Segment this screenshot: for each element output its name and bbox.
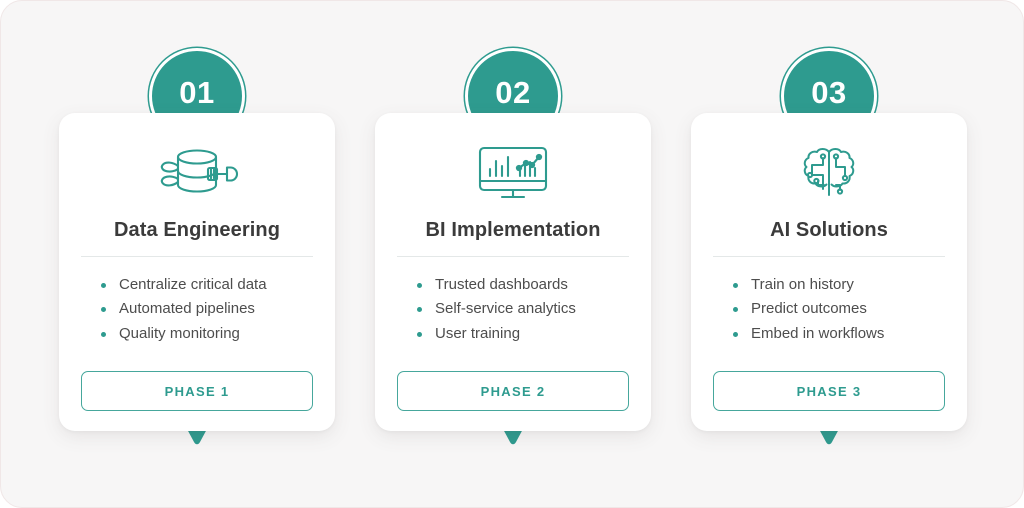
list-item: Centralize critical data [99,273,313,297]
dashboard-monitor-icon [473,143,553,205]
card-title: Data Engineering [114,219,280,242]
list-item: Embed in workflows [731,322,945,346]
phase-button[interactable]: PHASE 3 [713,371,945,411]
card-bullet-list: Centralize critical data Automated pipel… [81,273,313,346]
list-item: Automated pipelines [99,297,313,321]
card-bullet-list: Train on history Predict outcomes Embed … [713,273,945,346]
roadmap-infographic: 01 Dat [0,0,1024,508]
list-item: Predict outcomes [731,297,945,321]
card-body-1: Data Engineering Centralize critical dat… [59,113,335,431]
card-divider [397,256,629,257]
list-item: Quality monitoring [99,322,313,346]
card-divider [81,256,313,257]
step-badge-number: 02 [495,77,530,108]
list-item: Self-service analytics [415,297,629,321]
step-badge-number: 01 [179,77,214,108]
ai-brain-circuit-icon [798,143,860,205]
phase-card-2: 02 [375,113,651,431]
phase-button[interactable]: PHASE 1 [81,371,313,411]
step-badge-number: 03 [811,77,846,108]
list-item: Train on history [731,273,945,297]
card-divider [713,256,945,257]
phase-card-3: 03 [691,113,967,431]
phase-cards-row: 01 Dat [1,1,1024,508]
card-title: BI Implementation [425,219,600,242]
database-pipeline-icon [151,143,243,205]
card-body-3: AI Solutions Train on history Predict ou… [691,113,967,431]
list-item: Trusted dashboards [415,273,629,297]
list-item: User training [415,322,629,346]
phase-card-1: 01 Dat [59,113,335,431]
phase-button[interactable]: PHASE 2 [397,371,629,411]
card-body-2: BI Implementation Trusted dashboards Sel… [375,113,651,431]
card-bullet-list: Trusted dashboards Self-service analytic… [397,273,629,346]
card-title: AI Solutions [770,219,888,242]
